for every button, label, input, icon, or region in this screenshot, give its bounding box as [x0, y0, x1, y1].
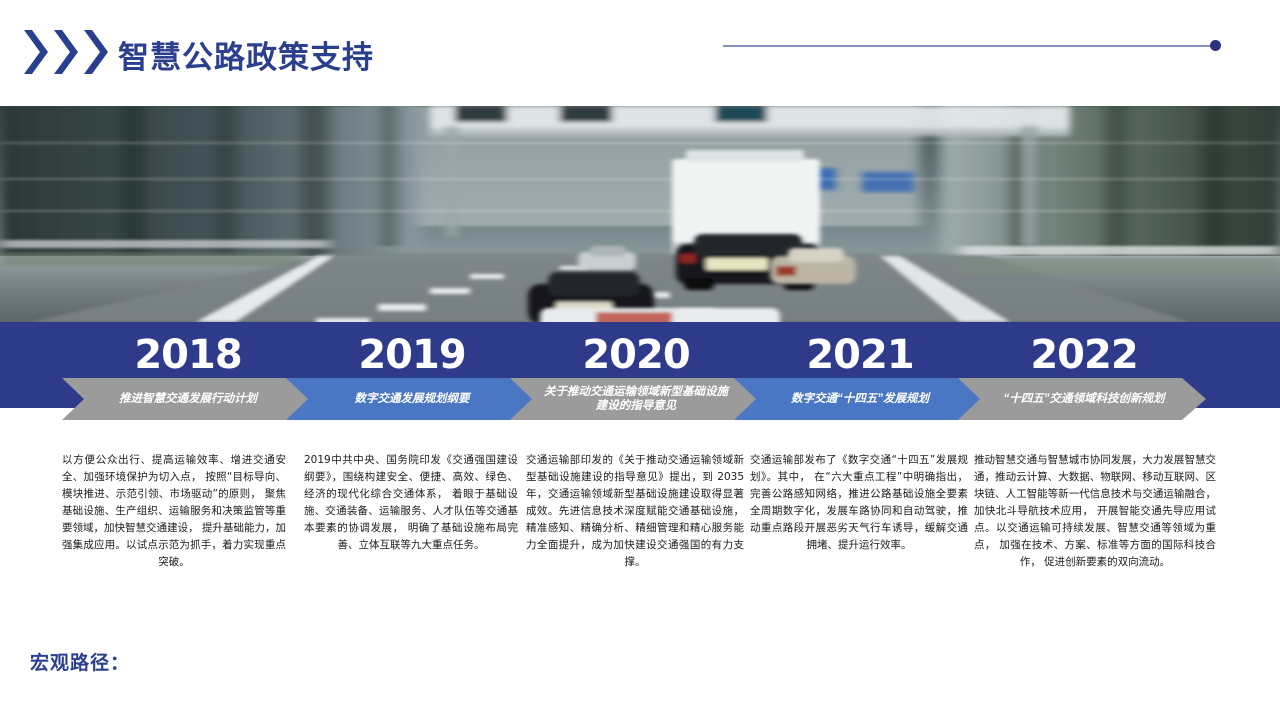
slide-header: 智慧公路政策支持 [0, 0, 1280, 104]
chevron-right-icon [22, 28, 52, 76]
header-end-dot [1210, 40, 1221, 51]
policy-arrow-label: 推进智慧交通发展行动计划 [62, 378, 310, 420]
policy-arrow-label: 关于推动交通运输领域新型基础设施建设的指导意见 [510, 378, 758, 420]
year-label-2018: 2018 [88, 332, 288, 378]
policy-arrow-2022[interactable]: “十四五”交通领域科技创新规划 [958, 378, 1206, 420]
policy-arrow-2020[interactable]: 关于推动交通运输领域新型基础设施建设的指导意见 [510, 378, 758, 420]
policy-arrow-2018[interactable]: 推进智慧交通发展行动计划 [62, 378, 310, 420]
policy-arrow-label: 数字交通发展规划纲要 [286, 378, 534, 420]
policy-paragraph-2021: 交通运输部发布了《数字交通“十四五”发展规划》。其中， 在“六大重点工程”中明确… [750, 452, 968, 554]
header-divider-line [723, 45, 1213, 47]
year-label-2019: 2019 [312, 332, 512, 378]
year-label-2020: 2020 [536, 332, 736, 378]
chevron-right-icon [52, 28, 82, 76]
policy-paragraph-2018: 以方便公众出行、提高运输效率、增进交通安全、加强环境保护为切入点， 按照“目标导… [62, 452, 286, 571]
macro-path-row: 政策搭台 示范推动 规模推进 [0, 628, 1280, 692]
chevron-right-icon [82, 28, 112, 76]
policy-arrow-2021[interactable]: 数字交通“十四五”发展规划 [734, 378, 982, 420]
page-title: 智慧公路政策支持 [118, 32, 374, 77]
policy-paragraph-2020: 交通运输部印发的《关于推动交通运输领域新型基础设施建设的指导意见》提出，到 20… [526, 452, 744, 571]
year-label-2021: 2021 [760, 332, 960, 378]
policy-arrow-label: “十四五”交通领域科技创新规划 [958, 378, 1206, 420]
highway-motion-blur-illustration [0, 106, 1280, 322]
policy-arrow-label: 数字交通“十四五”发展规划 [734, 378, 982, 420]
policy-arrow-2019[interactable]: 数字交通发展规划纲要 [286, 378, 534, 420]
year-label-2022: 2022 [984, 332, 1184, 378]
double-chevron-right-icon [22, 28, 112, 76]
slide-root: 智慧公路政策支持 [0, 0, 1280, 720]
policy-paragraph-2019: 2019中共中央、国务院印发《交通强国建设纲要》，围绕构建安全、便捷、高效、绿色… [304, 452, 518, 554]
highway-photo-banner [0, 106, 1280, 322]
policy-arrow-row: 推进智慧交通发展行动计划 数字交通发展规划纲要 关于推动交通运输领域新型基础设施… [0, 378, 1280, 420]
policy-paragraph-2022: 推动智慧交通与智慧城市协同发展，大力发展智慧交通，推动云计算、大数据、物联网、移… [974, 452, 1216, 571]
policy-description-row: 以方便公众出行、提高运输效率、增进交通安全、加强环境保护为切入点， 按照“目标导… [0, 452, 1280, 612]
